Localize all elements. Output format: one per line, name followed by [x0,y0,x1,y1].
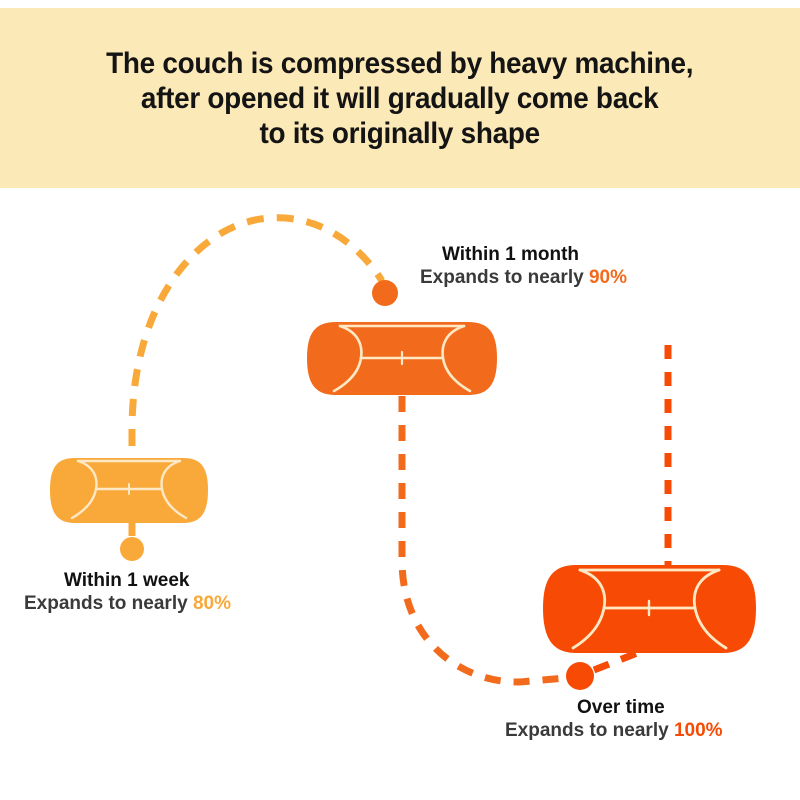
stage-percent-within-1-month: 90% [589,267,627,288]
couch-within-1-week [50,458,208,523]
expands-text-within-1-month: Expands to nearly [420,267,589,288]
stage-percent-within-1-week: 80% [193,593,231,614]
node-dot-within-1-week[interactable] [120,537,144,561]
infographic-canvas: The couch is compressed by heavy machine… [0,0,800,800]
stage-subtext-within-1-month: Expands to nearly 90% [420,266,627,290]
stage-percent-over-time: 100% [674,720,723,741]
stage-headline-within-1-week: Within 1 week [24,569,231,592]
stage-headline-within-1-month: Within 1 month [420,243,627,266]
connector-month-to-overtime [402,396,566,682]
expands-text-over-time: Expands to nearly [505,720,674,741]
stage-headline-over-time: Over time [505,696,723,719]
illustration-layer [0,0,800,800]
stage-label-over-time: Over time Expands to nearly 100% [505,696,723,743]
node-dot-over-time[interactable] [566,662,594,690]
stage-label-within-1-week: Within 1 week Expands to nearly 80% [24,569,231,616]
couch-over-time [543,565,756,653]
stage-label-within-1-month: Within 1 month Expands to nearly 90% [420,243,627,290]
couch-within-1-month [307,322,497,395]
stage-subtext-over-time: Expands to nearly 100% [505,719,723,743]
node-dot-within-1-month[interactable] [372,280,398,306]
expands-text-within-1-week: Expands to nearly [24,593,193,614]
stage-subtext-within-1-week: Expands to nearly 80% [24,592,231,616]
